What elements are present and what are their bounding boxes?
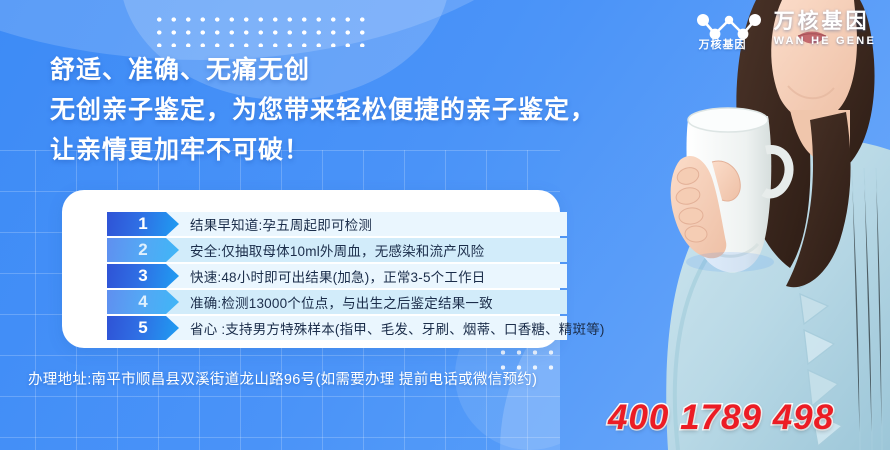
promo-banner: 万核基因 万核基因 WAN HE GENE 舒适、准确、无痛无创 无创亲子鉴定，… bbox=[0, 0, 890, 450]
headline-line-1: 舒适、准确、无痛无创 bbox=[50, 50, 596, 90]
brand-name-en: WAN HE GENE bbox=[774, 36, 876, 48]
pregnant-woman-photo bbox=[560, 0, 890, 450]
feature-row: 3 快速:48小时即可出结果(加急)，正常3-5个工作日 bbox=[107, 264, 567, 288]
feature-number-badge: 5 bbox=[107, 316, 179, 340]
features-card: 1 结果早知道:孕五周起即可检测 2 安全:仅抽取母体10ml外周血，无感染和流… bbox=[62, 190, 560, 348]
feature-text: 省心 :支持男方特殊样本(指甲、毛发、牙刷、烟蒂、口香糖、精斑等) bbox=[190, 318, 605, 338]
headline-line-3: 让亲情更加牢不可破！ bbox=[50, 130, 596, 170]
feature-number: 3 bbox=[138, 266, 147, 286]
feature-number: 5 bbox=[138, 318, 147, 338]
feature-text: 安全:仅抽取母体10ml外周血，无感染和流产风险 bbox=[190, 240, 484, 260]
feature-number-badge: 3 bbox=[107, 264, 179, 288]
logo-mark-caption: 万核基因 bbox=[699, 36, 747, 52]
office-address: 办理地址:南平市顺昌县双溪街道龙山路96号(如需要办理 提前电话或微信预约) bbox=[28, 368, 537, 389]
feature-number: 1 bbox=[138, 214, 147, 234]
hotline-phone-number[interactable]: 400 1789 498 bbox=[608, 398, 834, 438]
headline-line-2: 无创亲子鉴定，为您带来轻松便捷的亲子鉴定， bbox=[50, 90, 596, 130]
headline-block: 舒适、准确、无痛无创 无创亲子鉴定，为您带来轻松便捷的亲子鉴定， 让亲情更加牢不… bbox=[50, 50, 596, 170]
feature-text: 准确:检测13000个位点，与出生之后鉴定结果一致 bbox=[190, 292, 493, 312]
feature-row: 2 安全:仅抽取母体10ml外周血，无感染和流产风险 bbox=[107, 238, 567, 262]
feature-number: 2 bbox=[138, 240, 147, 260]
dot-grid-top bbox=[152, 13, 367, 47]
feature-number-badge: 2 bbox=[107, 238, 179, 262]
brand-wordmark: 万核基因 WAN HE GENE bbox=[774, 11, 876, 48]
feature-row: 5 省心 :支持男方特殊样本(指甲、毛发、牙刷、烟蒂、口香糖、精斑等) bbox=[107, 316, 567, 340]
feature-row: 4 准确:检测13000个位点，与出生之后鉴定结果一致 bbox=[107, 290, 567, 314]
feature-row: 1 结果早知道:孕五周起即可检测 bbox=[107, 212, 567, 236]
features-list: 1 结果早知道:孕五周起即可检测 2 安全:仅抽取母体10ml外周血，无感染和流… bbox=[107, 212, 567, 342]
brand-logo: 万核基因 万核基因 WAN HE GENE bbox=[693, 8, 876, 50]
feature-text: 快速:48小时即可出结果(加急)，正常3-5个工作日 bbox=[190, 266, 485, 286]
feature-text: 结果早知道:孕五周起即可检测 bbox=[190, 214, 372, 234]
feature-number: 4 bbox=[138, 292, 147, 312]
molecule-icon: 万核基因 bbox=[693, 8, 765, 50]
feature-number-badge: 1 bbox=[107, 212, 179, 236]
brand-name-cn: 万核基因 bbox=[774, 11, 876, 33]
feature-number-badge: 4 bbox=[107, 290, 179, 314]
